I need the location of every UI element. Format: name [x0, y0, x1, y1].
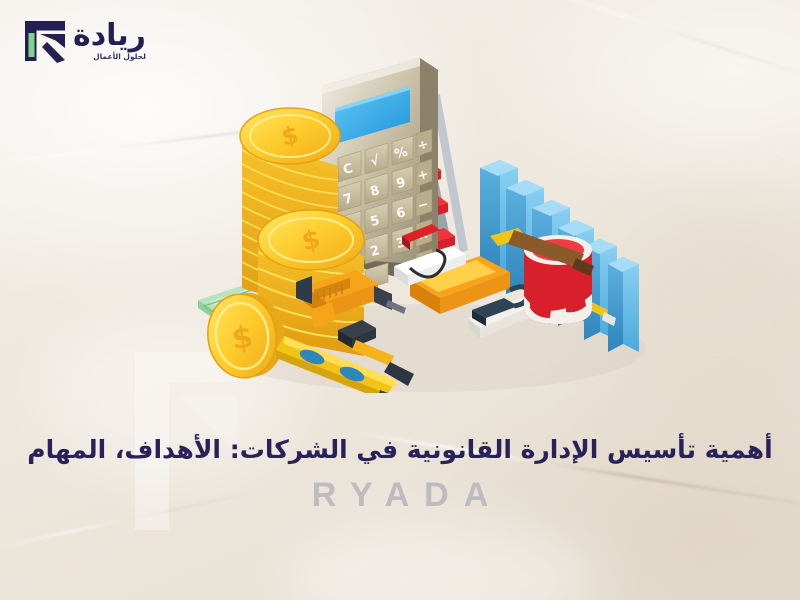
ryada-watermark-text: RYADA — [0, 476, 800, 515]
brand-logo[interactable]: ريادة لحلول الأعمال — [22, 18, 146, 64]
background-highlight-blob — [280, 520, 600, 600]
page-title: أهمية تأسيس الإدارة القانونية في الشركات… — [0, 435, 800, 464]
poster-canvas: C √ % ÷ 7 8 9 + 4 5 6 − 1 2 3 × . — [0, 0, 800, 600]
isometric-finance-and-tools-scene: C √ % ÷ 7 8 9 + 4 5 6 − 1 2 3 × . — [180, 18, 650, 393]
ryada-r-monogram-icon — [22, 18, 68, 64]
brand-tagline-arabic: لحلول الأعمال — [93, 53, 146, 61]
brand-name-arabic: ريادة — [73, 21, 146, 51]
brand-wordmark: ريادة لحلول الأعمال — [73, 21, 146, 61]
